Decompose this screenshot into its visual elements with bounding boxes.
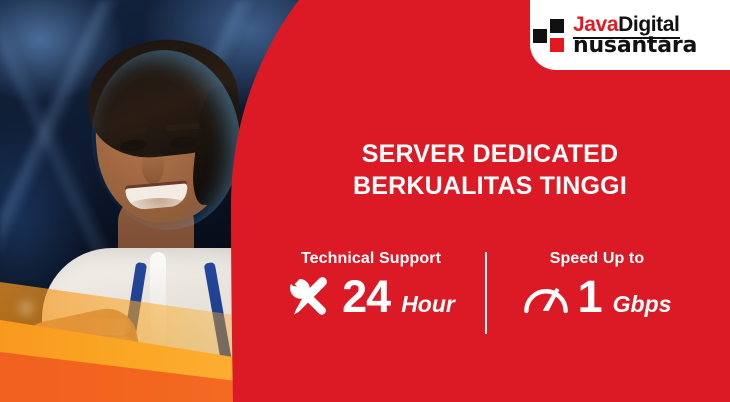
feature-divider [485,252,487,334]
brand-logo[interactable]: JavaDigital nusantara [532,14,730,57]
feature-list: Technical Support 24 Hour [258,250,710,346]
feature-technical-support: Technical Support 24 Hour [258,250,484,319]
feature-value-row: 1 Gbps [523,274,672,319]
shirt-placket [150,252,166,402]
feature-speed: Speed Up to 1 Gbps [484,250,710,319]
javadigital-squares-mark-icon [532,19,566,51]
promo-banner: JavaDigital nusantara SERVER DEDICATED B… [0,0,730,402]
finger [86,317,131,336]
logo-wordmark: JavaDigital nusantara [573,14,730,57]
speedometer-icon [523,275,569,319]
feature-value: 1 [578,274,602,319]
square-top-right [550,19,564,33]
logo-box[interactable]: JavaDigital nusantara [530,0,730,70]
feature-value-row: 24 Hour [287,274,455,319]
feature-unit: Hour [401,293,455,319]
wrench-screwdriver-icon [287,275,333,319]
feature-unit: Gbps [613,293,672,319]
square-middle-left [533,29,547,43]
headline-line-1: SERVER DEDICATED [280,138,700,170]
finger [94,337,134,353]
headline-line-2: BERKUALITAS TINGGI [280,170,700,202]
feature-value: 24 [342,274,390,319]
logo-word-nusantara: nusantara [573,33,697,58]
square-bottom-right [550,38,564,52]
page-title: SERVER DEDICATED BERKUALITAS TINGGI [280,138,700,202]
feature-label: Speed Up to [550,250,644,268]
feature-label: Technical Support [301,250,441,268]
